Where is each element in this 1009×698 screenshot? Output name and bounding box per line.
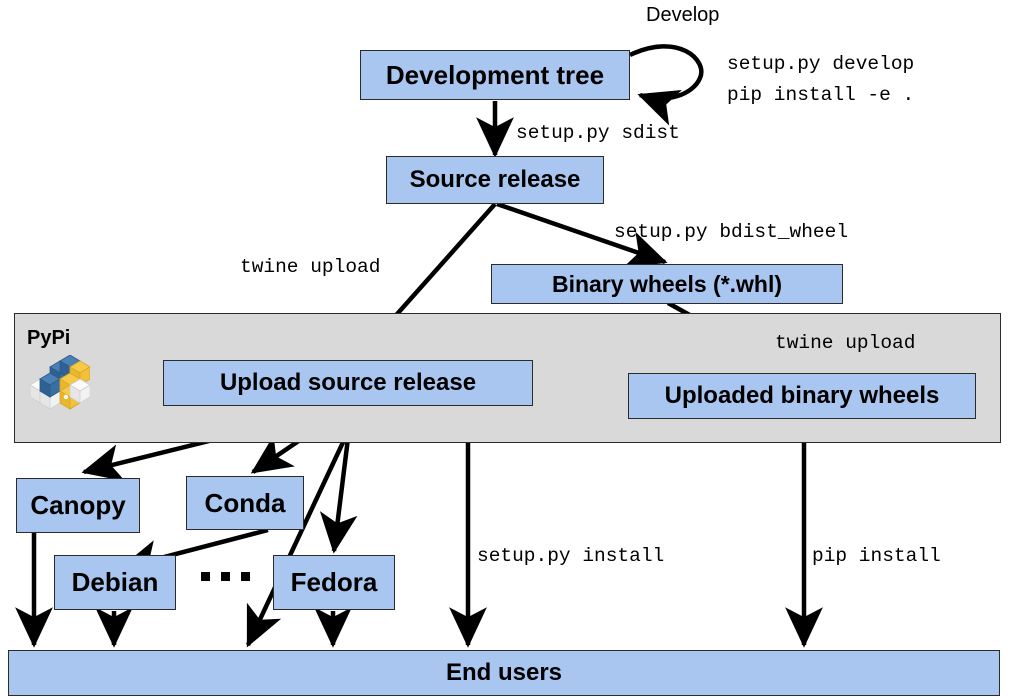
node-canopy[interactable]: Canopy [16,478,140,533]
label-twine-upload-source: twine upload [240,256,380,278]
node-source-release[interactable]: Source release [386,156,604,204]
ellipsis-dot [201,572,210,581]
node-binary-wheels[interactable]: Binary wheels (*.whl) [491,264,843,304]
node-end-users[interactable]: End users [8,650,1000,696]
ellipsis-more-distros [201,572,250,581]
pypi-group-label: PyPi [27,327,70,350]
label-pip-install: pip install [812,545,941,567]
node-debian[interactable]: Debian [54,555,176,610]
label-setup-py-sdist: setup.py sdist [516,122,680,144]
label-setup-py-install: setup.py install [477,545,664,567]
label-develop: Develop [646,4,719,27]
node-conda[interactable]: Conda [186,476,304,530]
pypi-python-voxel-logo [26,355,90,413]
node-fedora[interactable]: Fedora [273,555,395,610]
node-uploaded-binary-wheels[interactable]: Uploaded binary wheels [628,373,976,419]
diagram-canvas: PyPi [0,0,1009,698]
node-development-tree[interactable]: Development tree [360,50,630,100]
node-upload-source-release[interactable]: Upload source release [163,360,533,406]
label-twine-upload-wheels: twine upload [775,332,915,354]
label-setup-py-develop: setup.py develop [727,53,914,75]
label-setup-py-bdist-wheel: setup.py bdist_wheel [614,221,848,243]
ellipsis-dot [221,572,230,581]
ellipsis-dot [241,572,250,581]
label-pip-install-editable: pip install -e . [727,84,914,106]
